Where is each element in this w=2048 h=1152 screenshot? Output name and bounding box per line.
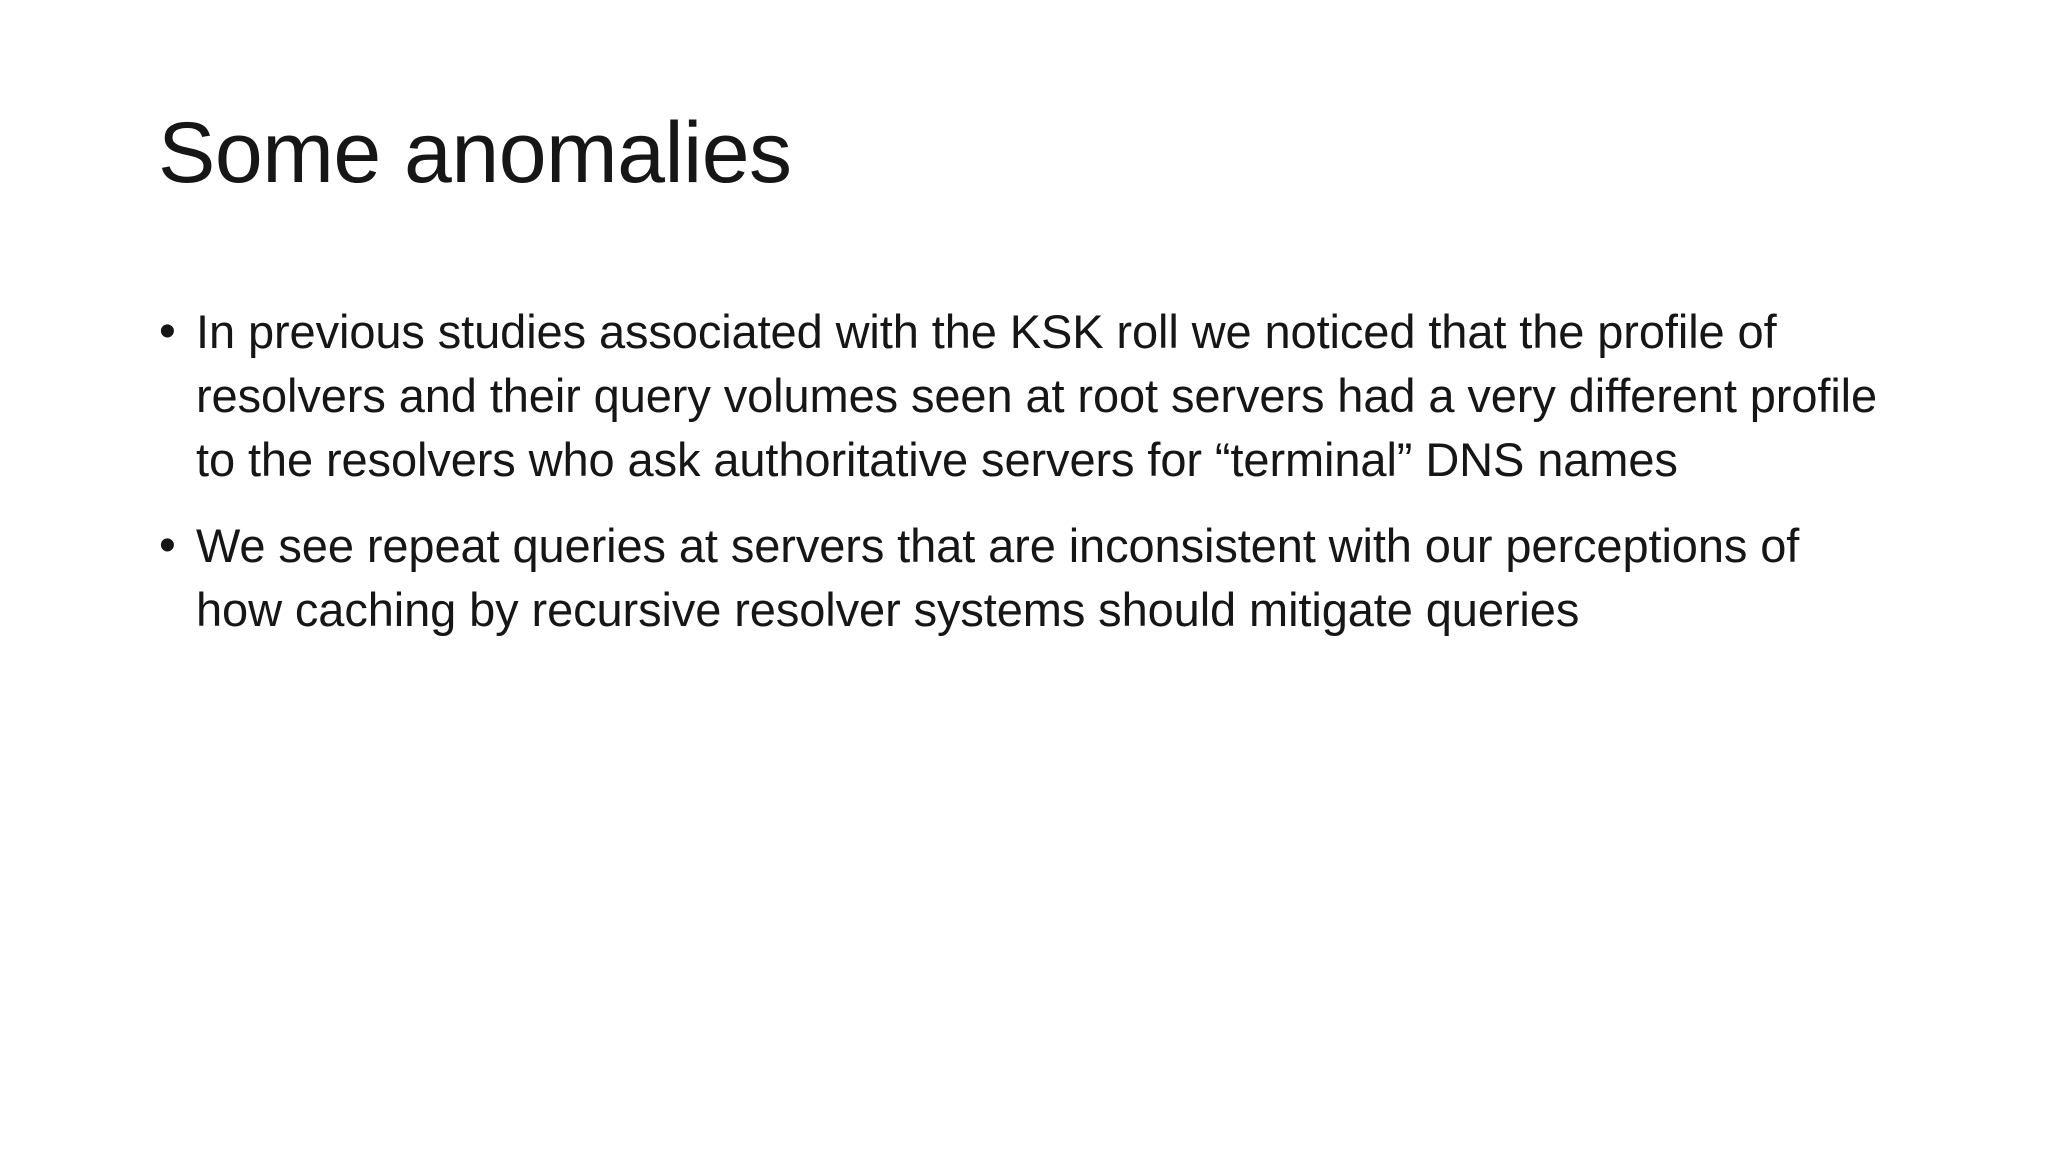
list-item: • In previous studies associated with th… bbox=[150, 300, 1880, 492]
bullet-point-icon: • bbox=[150, 514, 196, 578]
bullet-text: In previous studies associated with the … bbox=[196, 300, 1880, 492]
list-item: • We see repeat queries at servers that … bbox=[150, 514, 1880, 642]
presentation-slide: Some anomalies • In previous studies ass… bbox=[0, 0, 2048, 1152]
bullet-point-icon: • bbox=[150, 300, 196, 364]
bullet-text: We see repeat queries at servers that ar… bbox=[196, 514, 1880, 642]
slide-title: Some anomalies bbox=[158, 108, 1898, 198]
slide-body-bullet-list: • In previous studies associated with th… bbox=[150, 300, 1880, 642]
